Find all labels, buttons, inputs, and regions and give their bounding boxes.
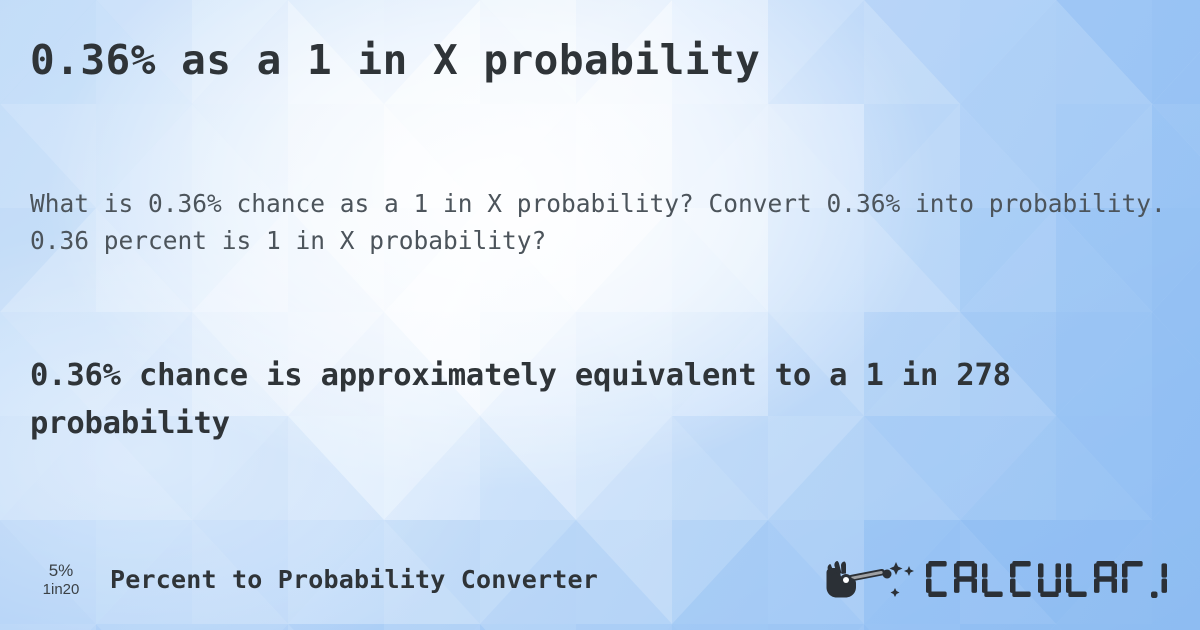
calculatio-wordmark bbox=[926, 561, 1170, 598]
footer-left-group: 5% 1in20 Percent to Probability Converte… bbox=[30, 562, 598, 597]
percent-probability-badge: 5% 1in20 bbox=[30, 562, 92, 597]
hand-magic-wand-icon bbox=[827, 561, 915, 598]
brand-logo-group[interactable] bbox=[820, 555, 1170, 603]
answer-statement: 0.36% chance is approximately equivalent… bbox=[30, 352, 1180, 448]
page-description: What is 0.36% chance as a 1 in X probabi… bbox=[30, 185, 1175, 259]
badge-percent-label: 5% bbox=[49, 562, 74, 579]
card-footer: 5% 1in20 Percent to Probability Converte… bbox=[0, 552, 1200, 606]
footer-tool-title: Percent to Probability Converter bbox=[110, 565, 598, 594]
share-card-canvas: 0.36% as a 1 in X probability What is 0.… bbox=[0, 0, 1200, 630]
card-content: 0.36% as a 1 in X probability What is 0.… bbox=[0, 0, 1200, 630]
page-title: 0.36% as a 1 in X probability bbox=[30, 36, 760, 84]
badge-oneinx-label: 1in20 bbox=[43, 582, 80, 597]
calculatio-logo[interactable] bbox=[820, 555, 1170, 603]
